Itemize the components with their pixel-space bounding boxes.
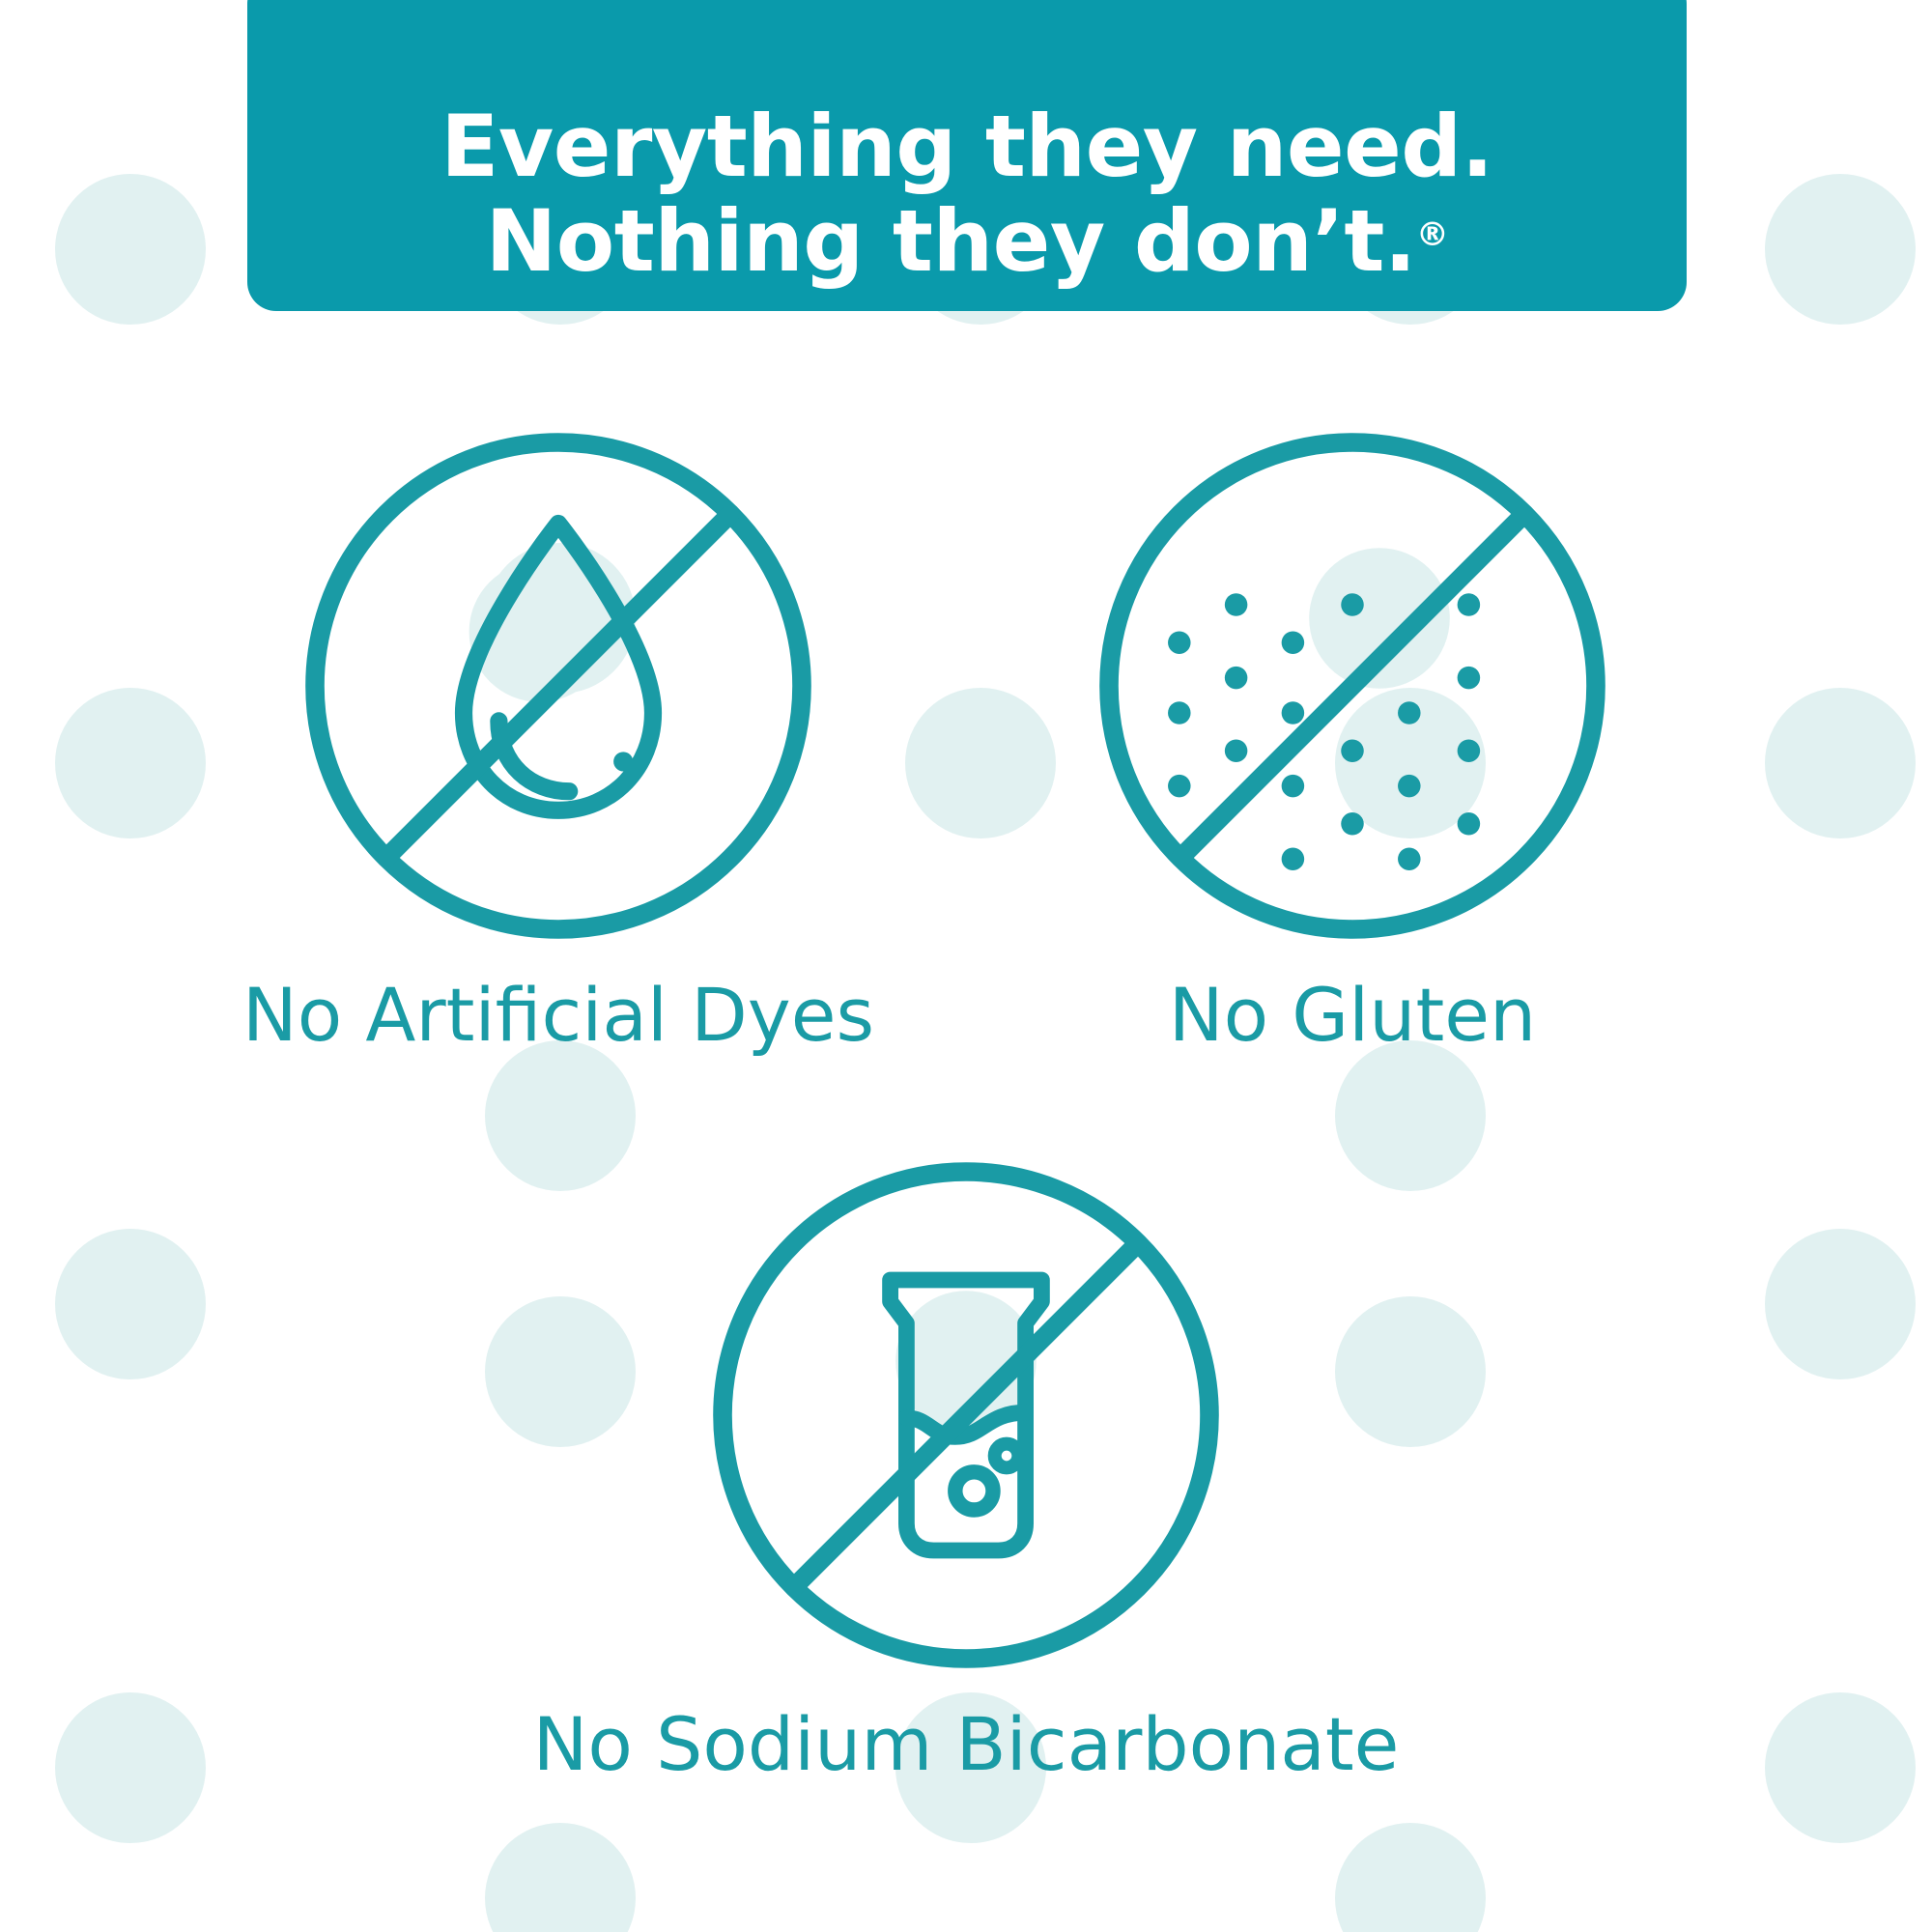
badge-no-sodium-bicarbonate: No Sodium Bicarbonate: [541, 1145, 1391, 1787]
badge-label-no-artificial-dyes: No Artificial Dyes: [242, 972, 874, 1058]
benefit-badge-grid: No Artificial Dyes: [0, 0, 1932, 1932]
no-water-droplet-icon: [288, 415, 829, 956]
badge-label-no-sodium-bicarbonate: No Sodium Bicarbonate: [533, 1701, 1400, 1787]
promo-graphic: Everything they need. Nothing they don’t…: [0, 0, 1932, 1932]
badge-label-no-gluten: No Gluten: [1169, 972, 1536, 1058]
badge-no-artificial-dyes: No Artificial Dyes: [133, 415, 983, 1058]
no-beaker-icon: [696, 1145, 1236, 1686]
no-grain-particles-icon: [1082, 415, 1623, 956]
badge-no-gluten: No Gluten: [985, 415, 1719, 1058]
